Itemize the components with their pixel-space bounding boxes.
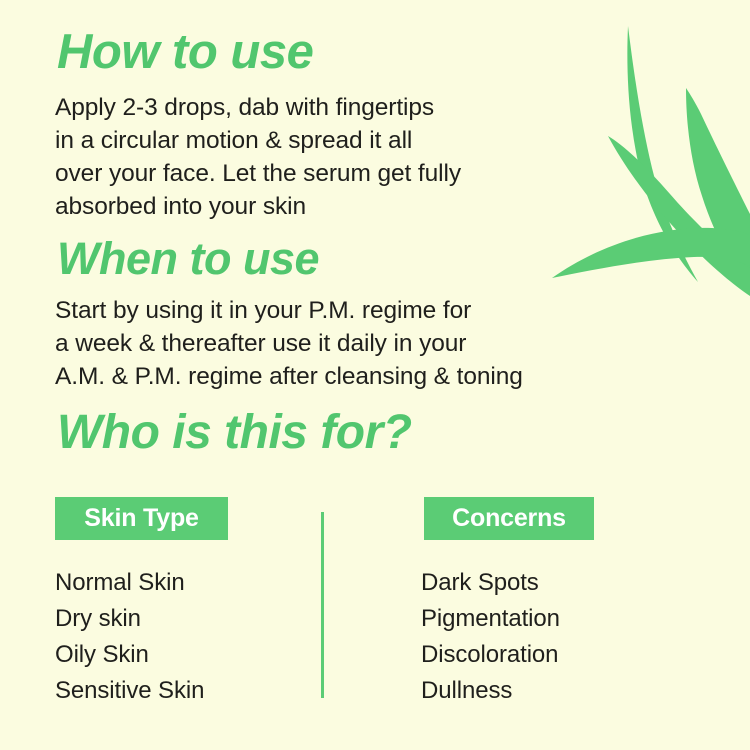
how-to-use-heading: How to use: [57, 28, 313, 77]
when-to-use-heading: When to use: [57, 236, 319, 281]
skin-type-list: Normal Skin Dry skin Oily Skin Sensitive…: [55, 565, 204, 709]
how-to-use-line: absorbed into your skin: [55, 190, 461, 223]
list-item: Dark Spots: [421, 565, 560, 601]
list-item: Sensitive Skin: [55, 673, 204, 709]
how-to-use-body: Apply 2-3 drops, dab with fingertips in …: [55, 91, 461, 223]
when-to-use-line: Start by using it in your P.M. regime fo…: [55, 294, 523, 327]
product-usage-infographic: How to use Apply 2-3 drops, dab with fin…: [0, 0, 750, 750]
how-to-use-line: Apply 2-3 drops, dab with fingertips: [55, 91, 461, 124]
concerns-label-pill: Concerns: [424, 497, 594, 540]
when-to-use-line: a week & thereafter use it daily in your: [55, 327, 523, 360]
concerns-list: Dark Spots Pigmentation Discoloration Du…: [421, 565, 560, 709]
column-divider: [321, 512, 324, 698]
list-item: Pigmentation: [421, 601, 560, 637]
who-is-this-for-heading: Who is this for?: [57, 409, 412, 457]
skin-type-label-pill: Skin Type: [55, 497, 228, 540]
how-to-use-line: in a circular motion & spread it all: [55, 124, 461, 157]
leaf-cluster-icon: [540, 0, 750, 360]
list-item: Normal Skin: [55, 565, 204, 601]
how-to-use-line: over your face. Let the serum get fully: [55, 157, 461, 190]
list-item: Dullness: [421, 673, 560, 709]
list-item: Oily Skin: [55, 637, 204, 673]
list-item: Dry skin: [55, 601, 204, 637]
when-to-use-line: A.M. & P.M. regime after cleansing & ton…: [55, 360, 523, 393]
when-to-use-body: Start by using it in your P.M. regime fo…: [55, 294, 523, 393]
list-item: Discoloration: [421, 637, 560, 673]
